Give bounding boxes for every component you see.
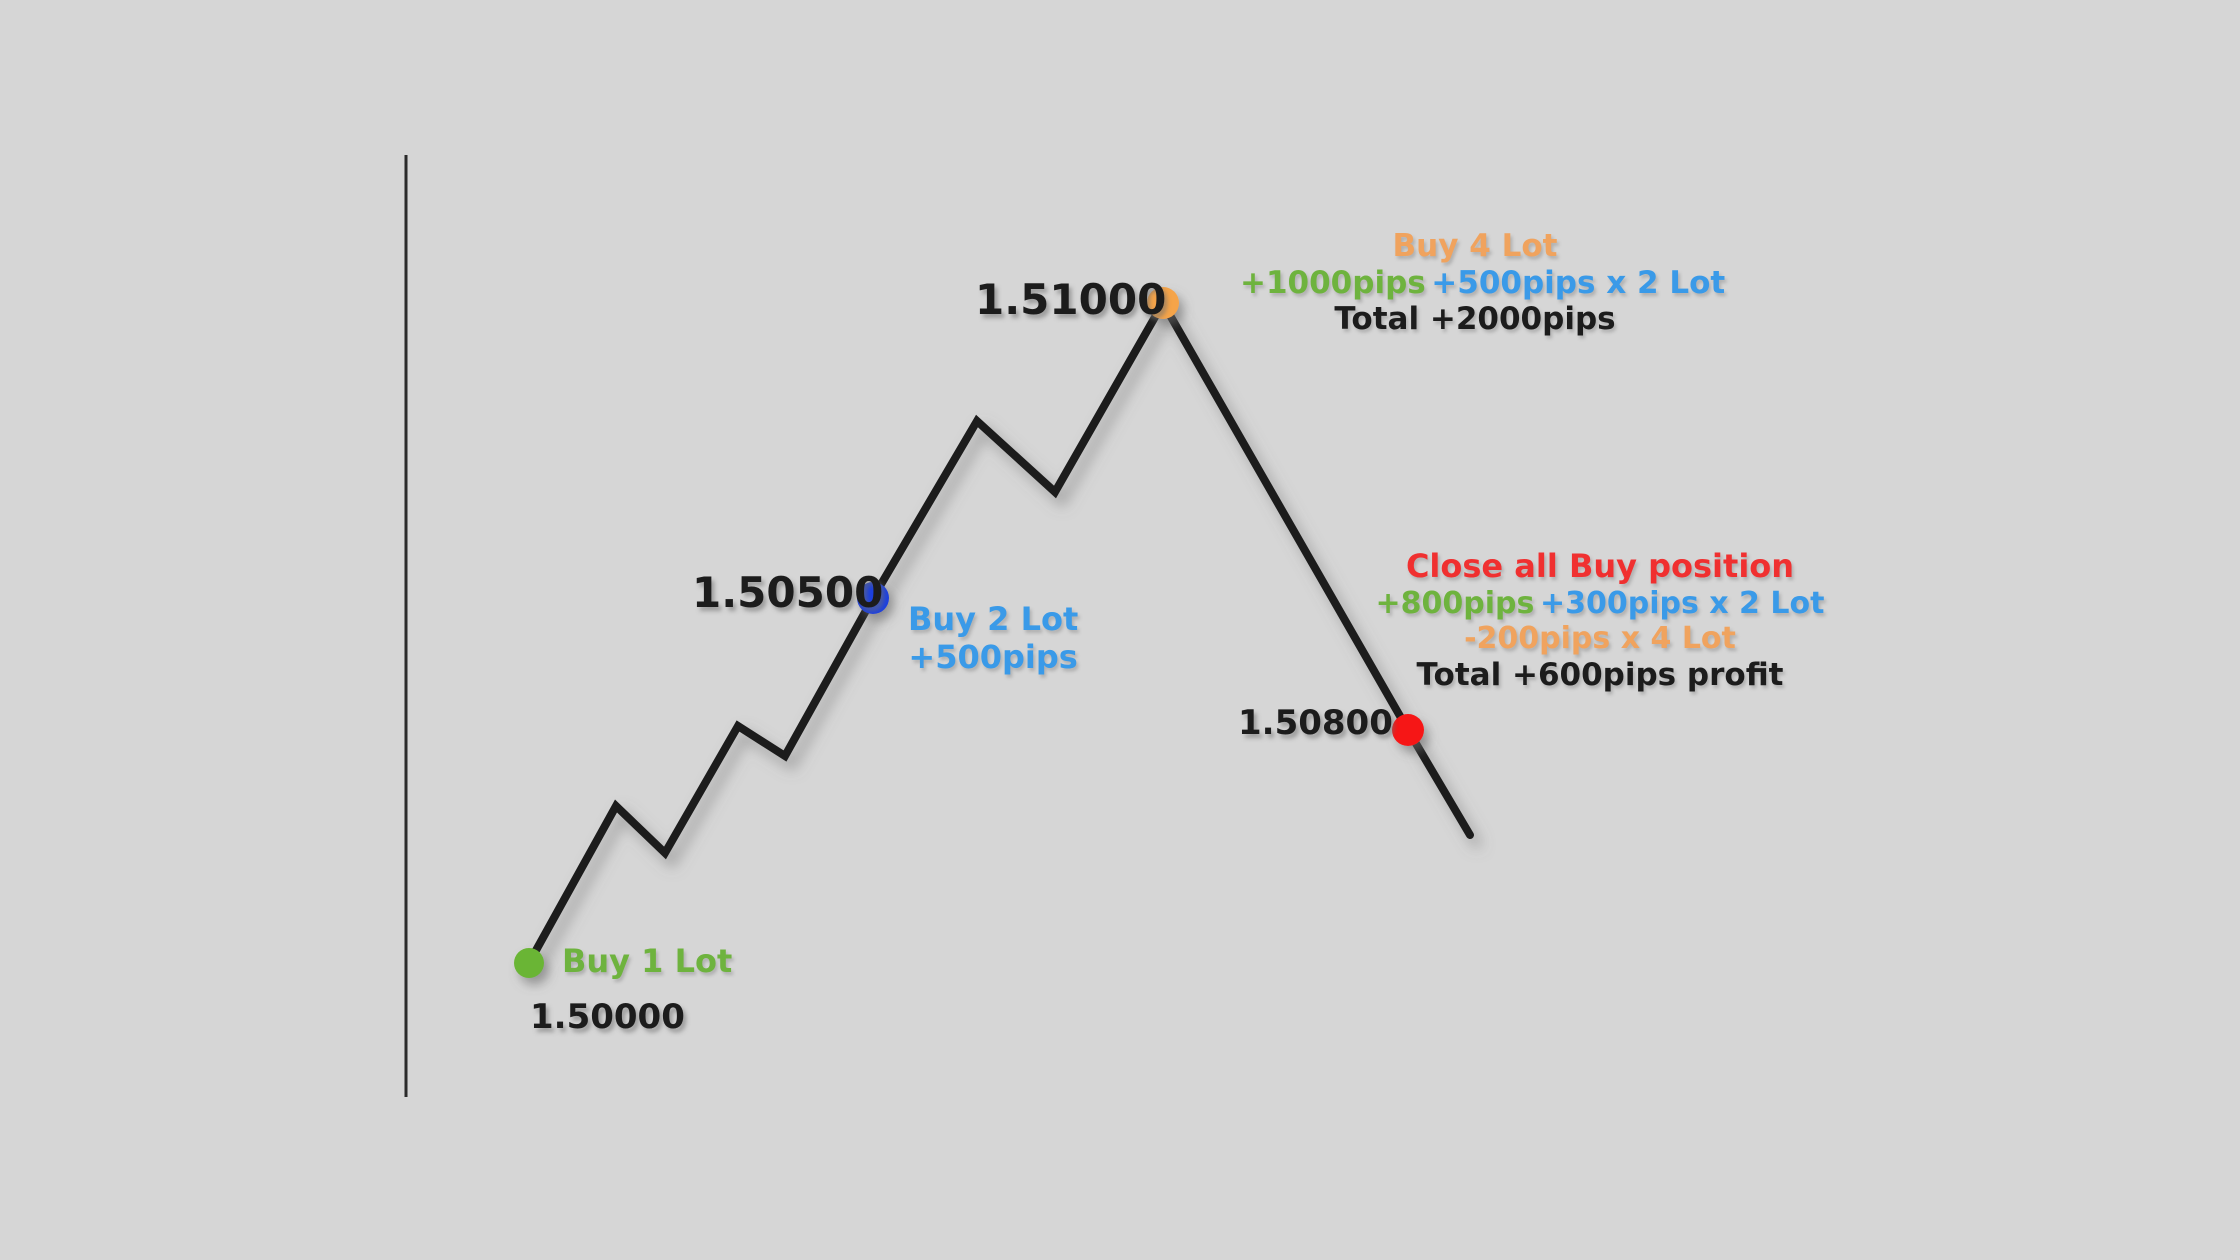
chart-canvas <box>0 0 2240 1260</box>
annotation-buy-2-lot-pips: +500pips <box>908 639 1078 677</box>
annotation-buy-4-lot-title: Buy 4 Lot <box>1240 228 1710 265</box>
forex-pyramiding-diagram: 1.51000 1.50500 1.50800 1.50000 Buy 1 Lo… <box>0 0 2240 1260</box>
annotation-buy-2-lot: Buy 2 Lot +500pips <box>908 601 1078 677</box>
price-label-150800: 1.50800 <box>1238 703 1393 743</box>
annotation-close-all-green: +800pips <box>1376 586 1535 621</box>
annotation-buy-4-lot-breakdown: +1000pips +500pips x 2 Lot <box>1240 265 1710 302</box>
marker-close-all[interactable] <box>1392 714 1424 746</box>
annotation-buy-2-lot-title: Buy 2 Lot <box>908 601 1078 639</box>
annotation-buy-4-lot: Buy 4 Lot +1000pips +500pips x 2 Lot Tot… <box>1240 228 1710 338</box>
annotation-close-all-total: Total +600pips profit <box>1375 657 1825 694</box>
price-label-151000: 1.51000 <box>975 275 1166 325</box>
annotation-buy-4-lot-blue: +500pips x 2 Lot <box>1431 265 1725 301</box>
marker-buy-1-lot[interactable] <box>514 948 544 978</box>
annotation-close-all-orange: -200pips x 4 Lot <box>1375 621 1825 656</box>
annotation-buy-4-lot-green: +1000pips <box>1240 265 1426 301</box>
annotation-close-all-title: Close all Buy position <box>1375 548 1825 586</box>
annotation-close-all-blue: +300pips x 2 Lot <box>1540 586 1824 621</box>
price-label-150500: 1.50500 <box>692 568 883 618</box>
annotation-close-all-breakdown: +800pips +300pips x 2 Lot <box>1375 586 1825 621</box>
annotation-close-all: Close all Buy position +800pips +300pips… <box>1375 548 1825 693</box>
annotation-buy-1-lot: Buy 1 Lot <box>562 943 732 981</box>
annotation-buy-1-lot-title: Buy 1 Lot <box>562 943 732 981</box>
price-label-150000: 1.50000 <box>530 997 685 1037</box>
annotation-buy-4-lot-total: Total +2000pips <box>1240 301 1710 338</box>
